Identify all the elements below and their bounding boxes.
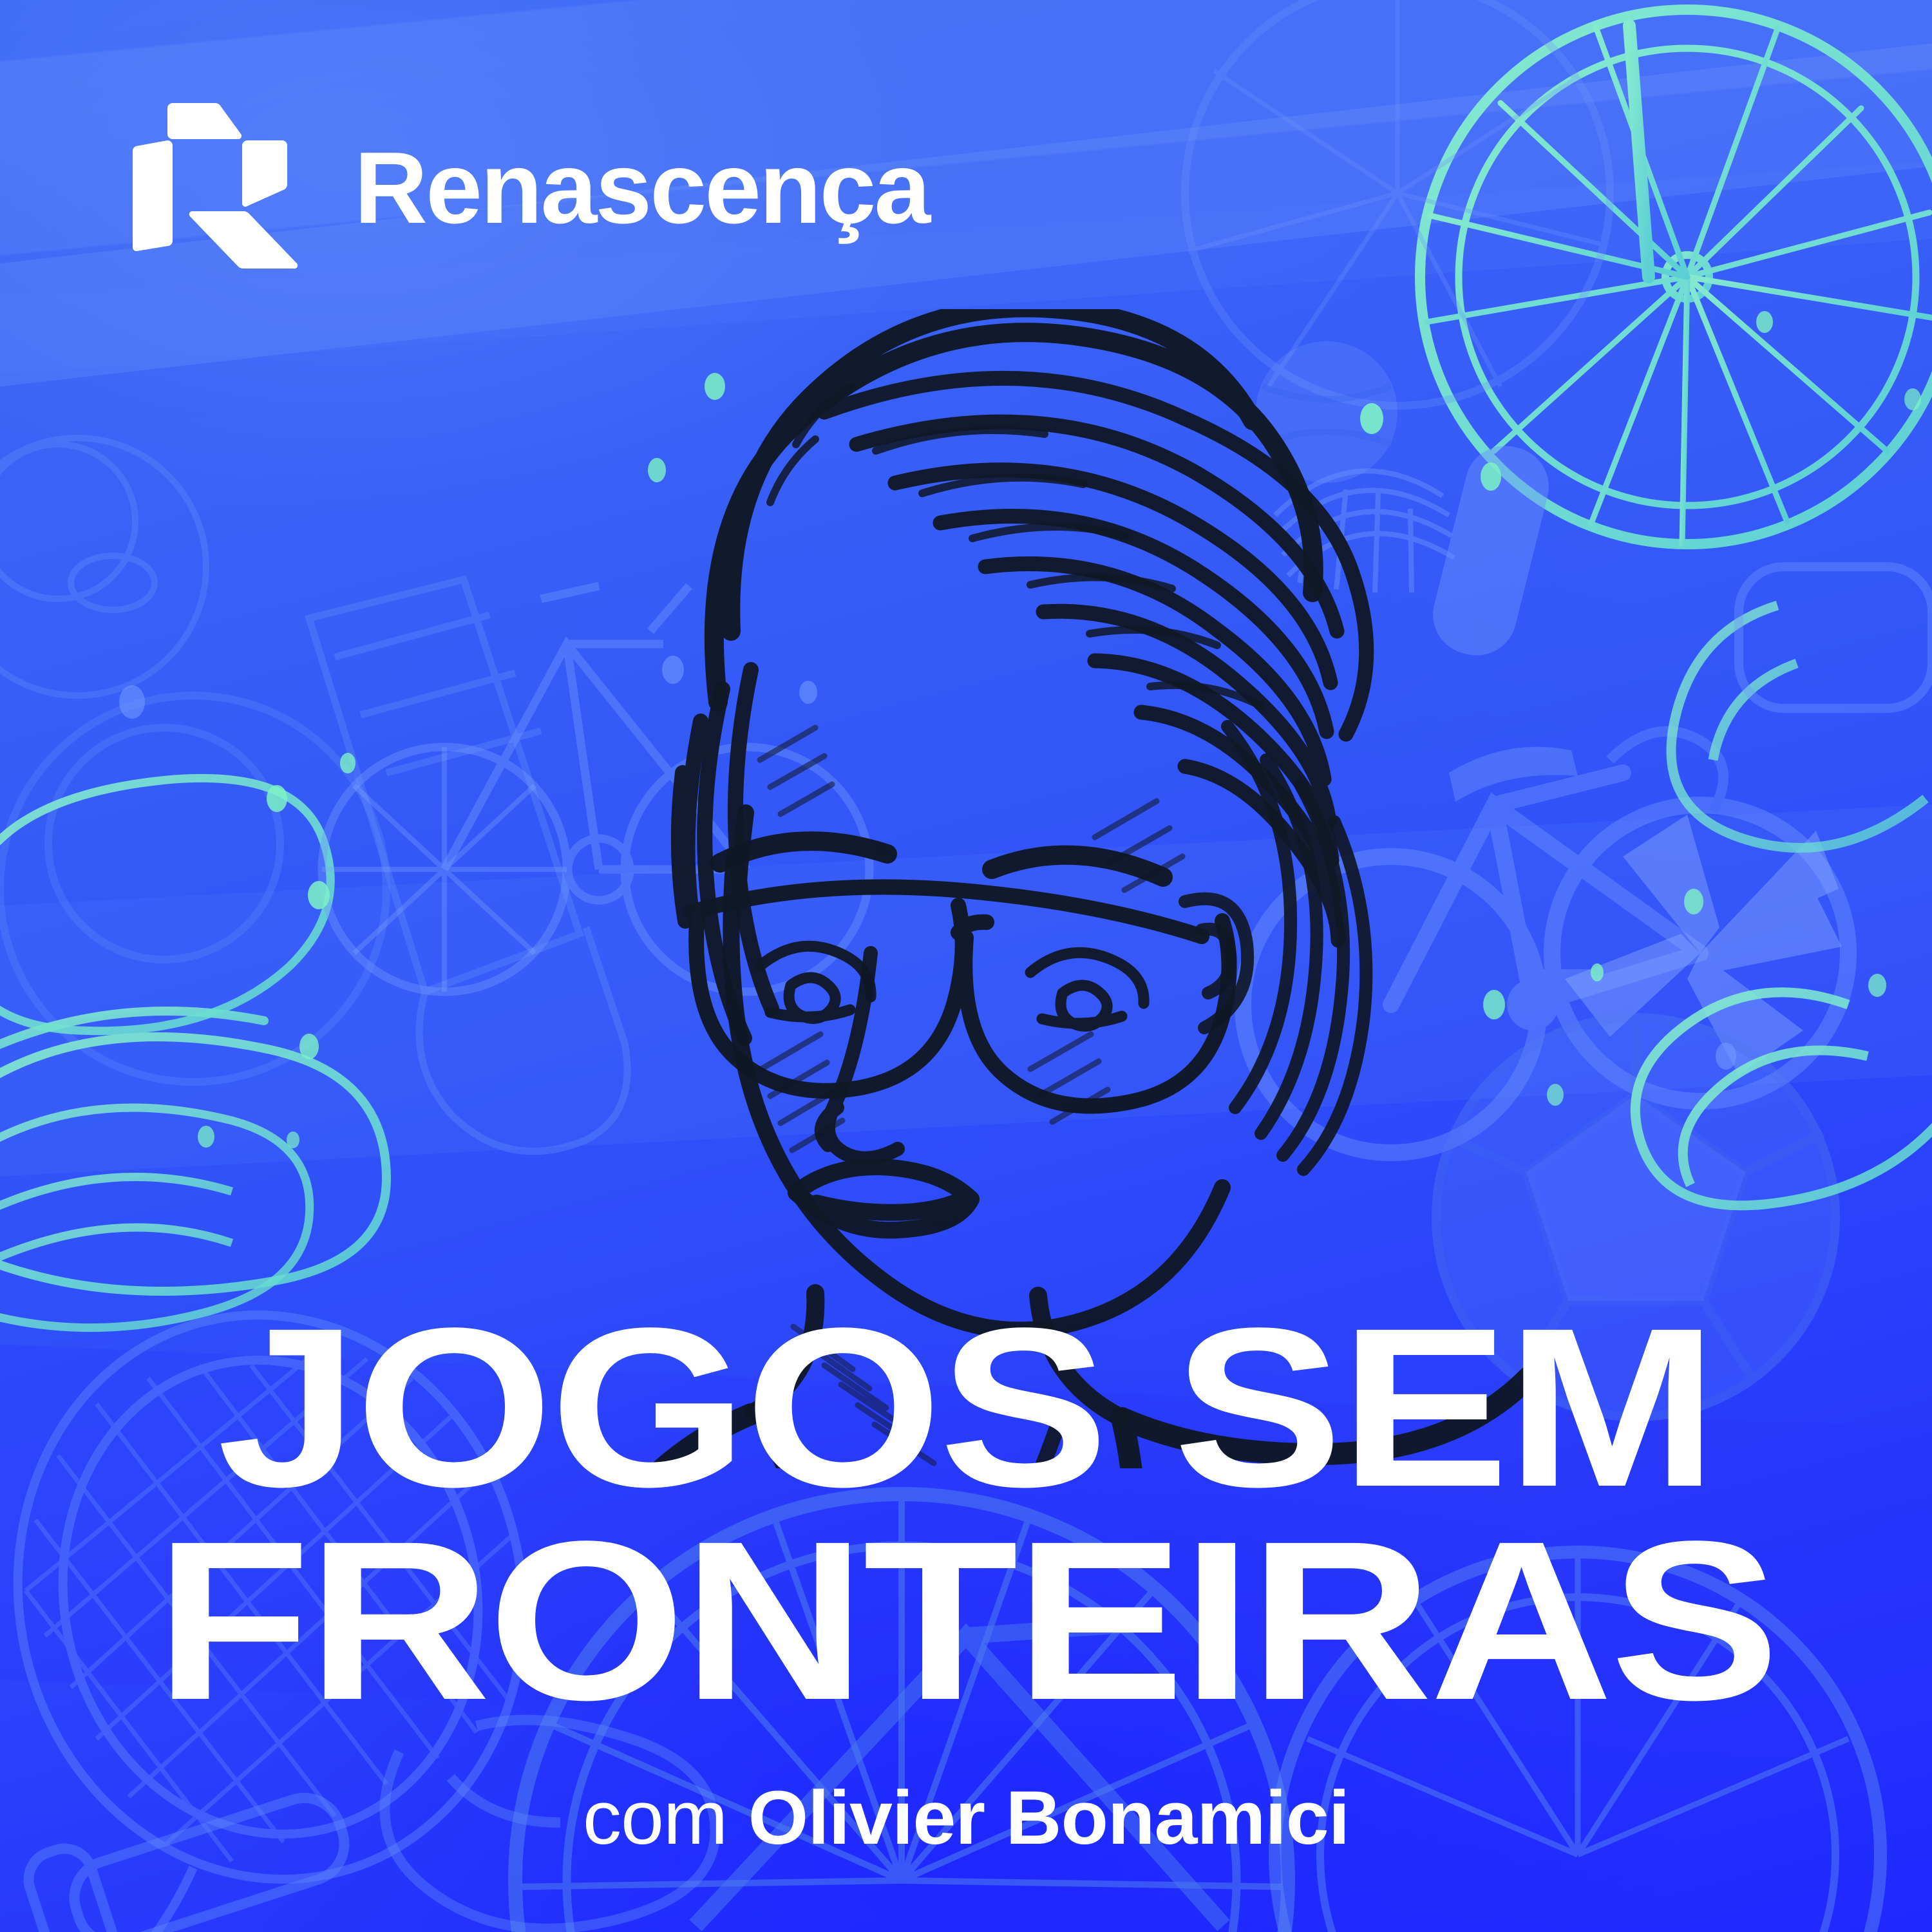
rounded-rect-icon — [1739, 567, 1932, 708]
ball-outline-icon — [0, 696, 386, 1082]
renascenca-wordmark: Renascença — [354, 137, 929, 239]
show-title-line-1: JOGOS SEM — [0, 1308, 1932, 1508]
renascenca-r-monogram-icon — [126, 97, 300, 274]
bicycle-wheel-icon — [1420, 10, 1932, 544]
decorative-dots — [119, 656, 1736, 1070]
mint-outline-shape — [1635, 992, 1932, 1206]
net-icon — [1275, 471, 1454, 592]
tennis-ball-icon — [1256, 341, 1397, 483]
light-streak — [0, 784, 1932, 1186]
show-title-line-2: FRONTEIRAS — [0, 1521, 1932, 1721]
byline-prefix: com — [583, 1776, 727, 1861]
water-bottle-icon — [309, 580, 627, 1151]
podcast-cover-art: Renascença JOGOS SEM FRONTEIRAS com Oliv… — [0, 0, 1932, 1932]
mint-swoosh — [0, 1011, 386, 1291]
bicycle-icon — [1243, 731, 1848, 1153]
bicycle-wheel-icon — [1185, 0, 1610, 406]
renascenca-logo-lockup[interactable]: Renascença — [126, 97, 929, 274]
mint-outline-shape — [1671, 605, 1926, 848]
decorative-circles — [0, 438, 206, 696]
bicycle-wheel-spokes — [322, 747, 567, 992]
byline-host-name: Olivier Bonamici — [748, 1776, 1350, 1861]
host-byline: com Olivier Bonamici — [79, 1780, 1853, 1856]
bicycle-icon — [322, 586, 869, 992]
mint-outline-shape — [0, 778, 330, 1030]
bicycle-wheel-spokes — [1565, 815, 1842, 1075]
capsule-icon — [1425, 437, 1557, 664]
title-block: JOGOS SEM FRONTEIRAS com Olivier Bonamic… — [0, 1308, 1932, 1932]
